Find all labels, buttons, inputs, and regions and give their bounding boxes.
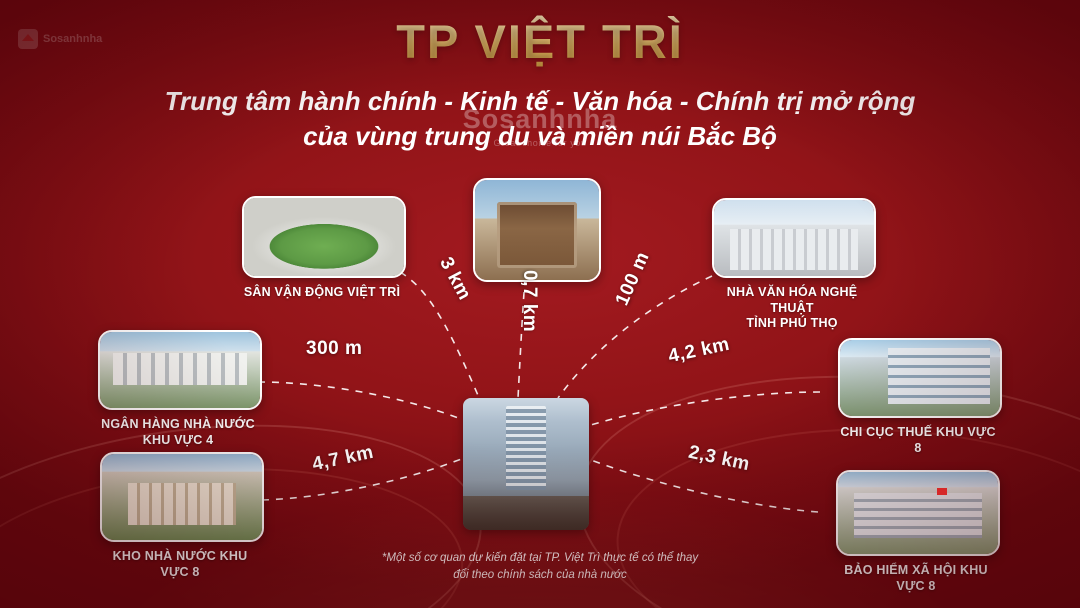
bank-label: NGÂN HÀNG NHÀ NƯỚC KHU VỰC 4 (98, 417, 258, 448)
node-center-tower[interactable] (463, 398, 589, 530)
gov-photo-card (100, 452, 264, 542)
dist-bank-label: 300 m (306, 338, 362, 360)
dist-tax-label: 4,2 km (666, 334, 731, 368)
culture-arts-center-photo (714, 200, 874, 276)
dist-gov-label: 4,7 km (310, 442, 375, 476)
dist-stadium-label: 3 km (434, 254, 475, 304)
dist-insurance-label: 2,3 km (686, 442, 751, 476)
culture-photo-card (712, 198, 876, 278)
node-stadium[interactable]: SÂN VẬN ĐỘNG VIỆT TRÌ (242, 196, 402, 301)
state-treasury-building-photo (102, 454, 262, 540)
state-bank-building-photo (100, 332, 260, 408)
node-bank[interactable]: NGÂN HÀNG NHÀ NƯỚC KHU VỰC 4 (98, 330, 258, 448)
link-bank (258, 382, 475, 425)
page-title: TP VIỆT TRÌ (0, 14, 1080, 69)
subtitle-line-1: Trung tâm hành chính - Kinh tế - Văn hóa… (0, 84, 1080, 119)
tax-office-building-photo (840, 340, 1000, 416)
bank-photo-card (98, 330, 262, 410)
stadium-photo-card (242, 196, 406, 278)
center-tower-photo (463, 398, 589, 530)
house-logo-icon (18, 29, 38, 49)
social-insurance-building-photo (838, 472, 998, 554)
node-culture[interactable]: NHÀ VĂN HÓA NGHỆ THUẬT TỈNH PHÚ THỌ (712, 198, 872, 332)
flag-icon (937, 488, 947, 495)
link-tax (575, 392, 820, 430)
subtitle-line-2: của vùng trung du và miền núi Bắc Bộ (0, 119, 1080, 154)
page-subtitle: Trung tâm hành chính - Kinh tế - Văn hóa… (0, 84, 1080, 154)
insurance-photo-card (836, 470, 1000, 556)
node-tax[interactable]: CHI CỤC THUẾ KHU VỰC 8 (838, 338, 998, 456)
corner-watermark-logo: Sosanhnha (18, 22, 138, 56)
footnote-line-1: *Một số cơ quan dự kiến đặt tại TP. Việt… (0, 550, 1080, 567)
corner-watermark-text: Sosanhnha (43, 33, 102, 45)
tax-label: CHI CỤC THUẾ KHU VỰC 8 (838, 425, 998, 456)
dist-gate-label: 0,7 km (518, 270, 540, 332)
infographic-canvas: TP VIỆT TRÌ Trung tâm hành chính - Kinh … (0, 0, 1080, 608)
stadium-label: SÂN VẬN ĐỘNG VIỆT TRÌ (242, 285, 402, 301)
hung-king-temple-gate-photo (475, 180, 599, 280)
footnote-line-2: đổi theo chính sách của nhà nước (0, 567, 1080, 584)
stadium-aerial-photo (244, 198, 404, 276)
dist-culture-label: 100 m (612, 249, 655, 309)
gate-photo-card (473, 178, 601, 282)
footnote: *Một số cơ quan dự kiến đặt tại TP. Việt… (0, 550, 1080, 585)
culture-label: NHÀ VĂN HÓA NGHỆ THUẬT TỈNH PHÚ THỌ (712, 285, 872, 332)
tax-photo-card (838, 338, 1002, 418)
